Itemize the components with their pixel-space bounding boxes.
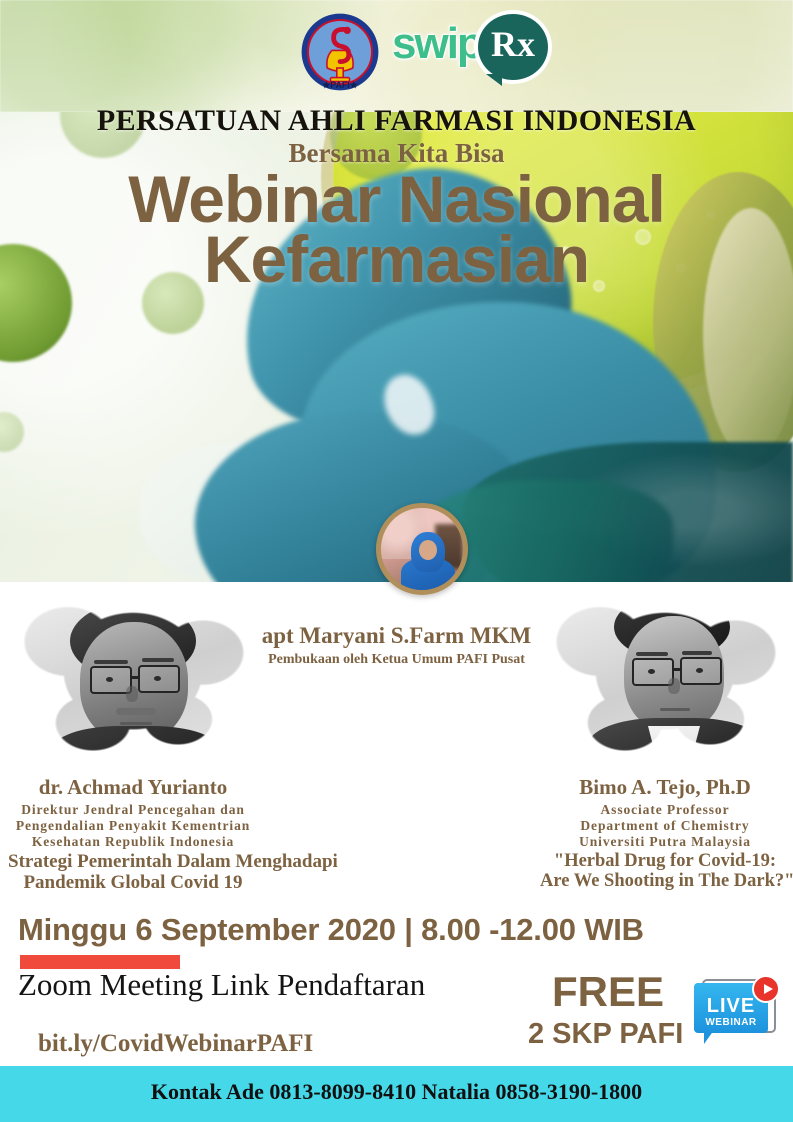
speaker-right-name: Bimo A. Tejo, Ph.D xyxy=(540,775,790,800)
topic-line: Are We Shooting in The Dark?" xyxy=(540,871,790,892)
registration-link[interactable]: bit.ly/CovidWebinarPAFI xyxy=(38,1030,313,1058)
topic-line: Pandemik Global Covid 19 xyxy=(8,872,258,893)
contact-footer: Kontak Ade 0813-8099-8410 Natalia 0858-3… xyxy=(0,1066,793,1122)
affiliation-line: Universiti Putra Malaysia xyxy=(540,834,790,850)
affiliation-line: Pengendalian Penyakit Kementrian xyxy=(8,818,258,834)
webinar-poster: ★PAFI★ swipe Rx PERSATUAN AHLI FARMASI I… xyxy=(0,0,793,1122)
speaker-right-photo xyxy=(540,586,790,771)
speaker-left-topic: Strategi Pemerintah Dalam Menghadapi Pan… xyxy=(8,851,258,894)
speaker-right: Bimo A. Tejo, Ph.D Associate Professor D… xyxy=(540,586,790,892)
rx-label: Rx xyxy=(478,26,548,62)
logo-row: ★PAFI★ swipe Rx xyxy=(300,10,590,92)
speaker-right-topic: "Herbal Drug for Covid-19: Are We Shooti… xyxy=(540,851,790,892)
topic-line: Strategi Pemerintah Dalam Menghadapi xyxy=(8,851,258,872)
affiliation-line: Associate Professor xyxy=(540,802,790,818)
contact-text: Kontak Ade 0813-8099-8410 Natalia 0858-3… xyxy=(0,1079,793,1105)
rx-bubble-icon: Rx xyxy=(478,14,548,80)
pafi-logo-icon: ★PAFI★ xyxy=(300,12,380,92)
affiliation-line: Direktur Jendral Pencegahan dan xyxy=(8,802,258,818)
svg-text:★PAFI★: ★PAFI★ xyxy=(322,80,358,90)
speaker-left-name: dr. Achmad Yurianto xyxy=(8,775,258,800)
affiliation-line: Department of Chemistry xyxy=(540,818,790,834)
badge-webinar-label: WEBINAR xyxy=(694,1017,768,1028)
credits-label: 2 SKP PAFI xyxy=(528,1018,683,1051)
speaker-left: dr. Achmad Yurianto Direktur Jendral Pen… xyxy=(8,586,258,893)
play-button-icon[interactable] xyxy=(752,975,780,1003)
speaker-left-affiliation: Direktur Jendral Pencegahan dan Pengenda… xyxy=(8,802,258,850)
topic-line: "Herbal Drug for Covid-19: xyxy=(540,851,790,872)
organization-name: PERSATUAN AHLI FARMASI INDONESIA xyxy=(0,104,793,138)
registration-heading: Zoom Meeting Link Pendaftaran xyxy=(18,967,425,1003)
price-label: FREE xyxy=(552,968,664,1016)
date-time-line: Minggu 6 September 2020 | 8.00 -12.00 WI… xyxy=(18,912,644,948)
title-line-2: Kefarmasian xyxy=(0,226,793,292)
center-speaker-photo xyxy=(376,503,468,595)
live-webinar-badge: LIVE WEBINAR xyxy=(694,975,780,1045)
speaker-right-affiliation: Associate Professor Department of Chemis… xyxy=(540,802,790,850)
affiliation-line: Kesehatan Republik Indonesia xyxy=(8,834,258,850)
speaker-left-photo xyxy=(8,586,258,771)
